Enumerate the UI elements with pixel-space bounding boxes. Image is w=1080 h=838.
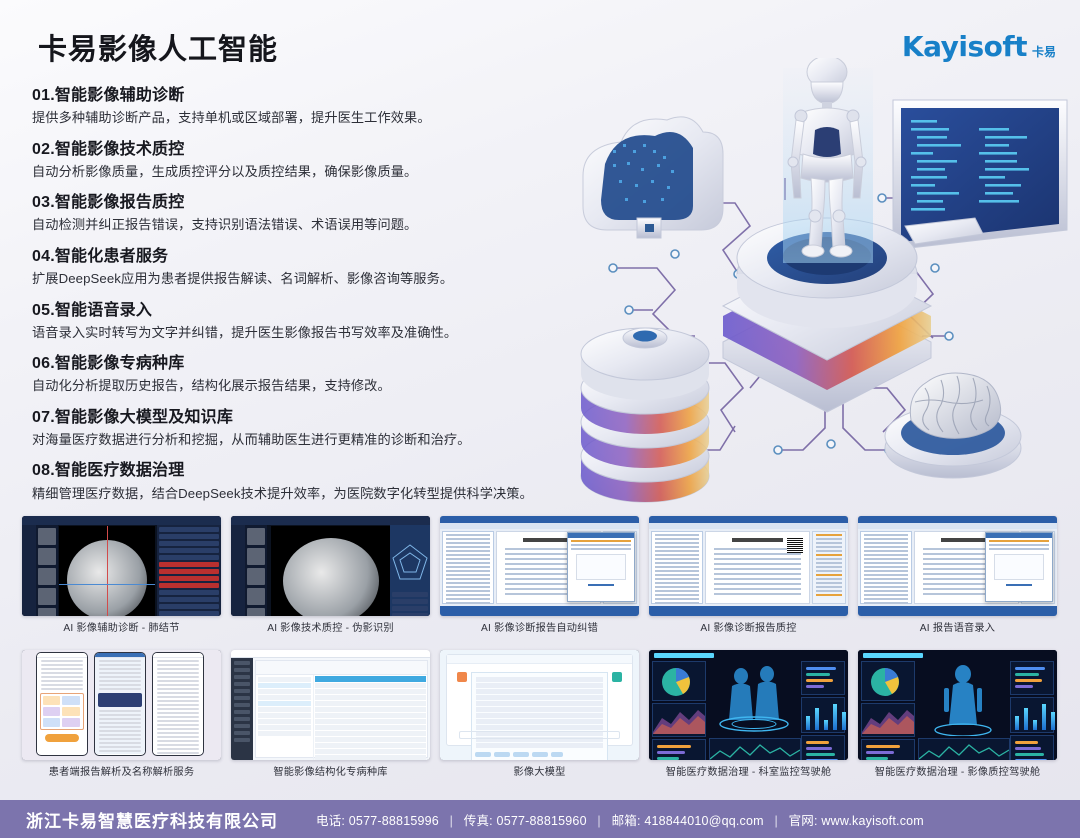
- phone-label: 电话:: [316, 814, 345, 828]
- feature-item-05: 05.智能语音录入语音录入实时转写为文字并纠错，提升医生影像报告书写效率及准确性…: [32, 299, 552, 344]
- shot-disease-db[interactable]: 智能影像结构化专病种库: [231, 650, 430, 779]
- feature-number: 06.: [32, 355, 55, 372]
- feature-title-text: 智能化患者服务: [55, 248, 168, 265]
- feature-number: 02.: [32, 141, 55, 158]
- shot-large-model-frame[interactable]: [440, 650, 639, 760]
- shot-qc-cockpit-frame[interactable]: [858, 650, 1057, 760]
- feature-description: 自动分析影像质量，生成质控评分以及质控结果，确保影像质量。: [32, 162, 552, 182]
- divider: |: [450, 814, 453, 828]
- feature-description: 精细管理医疗数据，结合DeepSeek技术提升效率，为医院数字化转型提供科学决策…: [32, 484, 552, 504]
- shot-ct-lung-nodule-frame[interactable]: [22, 516, 221, 616]
- feature-item-08: 08.智能医疗数据治理精细管理医疗数据，结合DeepSeek技术提升效率，为医院…: [32, 459, 552, 504]
- shot-ct-artifact-caption: AI 影像技术质控 - 伪影识别: [231, 623, 430, 635]
- shot-ct-lung-nodule[interactable]: AI 影像辅助诊断 - 肺结节: [22, 516, 221, 635]
- shot-report-voice-frame[interactable]: [858, 516, 1057, 616]
- shot-report-voice[interactable]: AI 报告语音录入: [858, 516, 1057, 635]
- feature-title: 03.智能影像报告质控: [32, 191, 552, 214]
- shot-report-qc-caption: AI 影像诊断报告质控: [649, 623, 848, 635]
- feature-title: 02.智能影像技术质控: [32, 138, 552, 161]
- feature-number: 03.: [32, 194, 55, 211]
- feature-title: 05.智能语音录入: [32, 299, 552, 322]
- monitor-code-screen: [893, 100, 1067, 250]
- feature-title-text: 智能影像辅助诊断: [55, 87, 185, 104]
- fax-label: 传真:: [464, 814, 493, 828]
- website-value: www.kayisoft.com: [821, 814, 924, 828]
- shot-report-autocorrect-frame[interactable]: [440, 516, 639, 616]
- feature-title-text: 智能影像技术质控: [55, 141, 185, 158]
- website-label: 官网:: [789, 814, 818, 828]
- feature-item-01: 01.智能影像辅助诊断提供多种辅助诊断产品，支持单机或区域部署，提升医生工作效果…: [32, 84, 552, 129]
- divider: |: [774, 814, 777, 828]
- feature-item-06: 06.智能影像专病种库自动化分析提取历史报告，结构化展示报告结果，支持修改。: [32, 352, 552, 397]
- shot-qc-cockpit-caption: 智能医疗数据治理 - 影像质控驾驶舱: [858, 767, 1057, 779]
- shot-qc-cockpit[interactable]: 智能医疗数据治理 - 影像质控驾驶舱: [858, 650, 1057, 779]
- shot-patient-mobile[interactable]: 患者端报告解析及名称解析服务: [22, 650, 221, 779]
- feature-description: 对海量医疗数据进行分析和挖掘，从而辅助医生进行更精准的诊断和治疗。: [32, 430, 552, 450]
- page-title: 卡易影像人工智能: [38, 26, 278, 68]
- feature-description: 自动检测并纠正报告错误，支持识别语法错误、术语误用等问题。: [32, 215, 552, 235]
- email-value: 418844010@qq.com: [644, 814, 763, 828]
- shot-large-model[interactable]: 影像大模型: [440, 650, 639, 779]
- feature-number: 07.: [32, 409, 55, 426]
- footer-contact-info: 电话: 0577-88815996 | 传真: 0577-88815960 | …: [316, 810, 924, 829]
- shot-report-autocorrect-caption: AI 影像诊断报告自动纠错: [440, 623, 639, 635]
- footer-company-name: 浙江卡易智慧医疗科技有限公司: [26, 807, 278, 832]
- brain-model: [885, 373, 1021, 478]
- screenshot-row-2: 患者端报告解析及名称解析服务智能影像结构化专病种库影像大模型智能医疗数据治理 -…: [0, 650, 1080, 800]
- shot-ct-artifact-frame[interactable]: [231, 516, 430, 616]
- feature-number: 04.: [32, 248, 55, 265]
- shot-disease-db-frame[interactable]: [231, 650, 430, 760]
- feature-item-03: 03.智能影像报告质控自动检测并纠正报告错误，支持识别语法错误、术语误用等问题。: [32, 191, 552, 236]
- feature-description: 提供多种辅助诊断产品，支持单机或区域部署，提升医生工作效果。: [32, 108, 552, 128]
- feature-title-text: 智能影像专病种库: [55, 355, 185, 372]
- feature-title: 06.智能影像专病种库: [32, 352, 552, 375]
- page-footer: 浙江卡易智慧医疗科技有限公司 电话: 0577-88815996 | 传真: 0…: [0, 800, 1080, 838]
- feature-list: 01.智能影像辅助诊断提供多种辅助诊断产品，支持单机或区域部署，提升医生工作效果…: [32, 84, 552, 513]
- ai-illustration: [575, 58, 1080, 510]
- shot-ct-artifact[interactable]: AI 影像技术质控 - 伪影识别: [231, 516, 430, 635]
- feature-item-02: 02.智能影像技术质控自动分析影像质量，生成质控评分以及质控结果，确保影像质量。: [32, 138, 552, 183]
- fax-value: 0577-88815960: [497, 814, 587, 828]
- feature-number: 05.: [32, 302, 55, 319]
- shot-report-qc[interactable]: AI 影像诊断报告质控: [649, 516, 848, 635]
- feature-title: 07.智能影像大模型及知识库: [32, 406, 552, 429]
- feature-item-07: 07.智能影像大模型及知识库对海量医疗数据进行分析和挖掘，从而辅助医生进行更精准…: [32, 406, 552, 451]
- shot-patient-mobile-frame[interactable]: [22, 650, 221, 760]
- shot-dept-cockpit-frame[interactable]: [649, 650, 848, 760]
- phone-value: 0577-88815996: [349, 814, 439, 828]
- divider: |: [597, 814, 600, 828]
- feature-title-text: 智能医疗数据治理: [55, 462, 185, 479]
- email-label: 邮箱:: [612, 814, 641, 828]
- feature-description: 自动化分析提取历史报告，结构化展示报告结果，支持修改。: [32, 376, 552, 396]
- feature-title-text: 智能影像报告质控: [55, 194, 185, 211]
- feature-item-04: 04.智能化患者服务扩展DeepSeek应用为患者提供报告解读、名词解析、影像咨…: [32, 245, 552, 290]
- shot-report-autocorrect[interactable]: AI 影像诊断报告自动纠错: [440, 516, 639, 635]
- shot-large-model-caption: 影像大模型: [440, 767, 639, 779]
- shot-dept-cockpit[interactable]: 智能医疗数据治理 - 科室监控驾驶舱: [649, 650, 848, 779]
- shot-report-qc-frame[interactable]: [649, 516, 848, 616]
- feature-title: 08.智能医疗数据治理: [32, 459, 552, 482]
- feature-number: 08.: [32, 462, 55, 479]
- database-stack: [581, 328, 709, 502]
- cloud-icon: [583, 117, 723, 238]
- feature-title-text: 智能影像大模型及知识库: [55, 409, 233, 426]
- feature-title: 04.智能化患者服务: [32, 245, 552, 268]
- shot-report-voice-caption: AI 报告语音录入: [858, 623, 1057, 635]
- feature-number: 01.: [32, 87, 55, 104]
- screenshot-row-1: AI 影像辅助诊断 - 肺结节AI 影像技术质控 - 伪影识别AI 影像诊断报告…: [0, 516, 1080, 644]
- shot-disease-db-caption: 智能影像结构化专病种库: [231, 767, 430, 779]
- shot-patient-mobile-caption: 患者端报告解析及名称解析服务: [22, 767, 221, 779]
- feature-title-text: 智能语音录入: [55, 302, 152, 319]
- feature-description: 语音录入实时转写为文字并纠错，提升医生影像报告书写效率及准确性。: [32, 323, 552, 343]
- feature-title: 01.智能影像辅助诊断: [32, 84, 552, 107]
- shot-dept-cockpit-caption: 智能医疗数据治理 - 科室监控驾驶舱: [649, 767, 848, 779]
- feature-description: 扩展DeepSeek应用为患者提供报告解读、名词解析、影像咨询等服务。: [32, 269, 552, 289]
- shot-ct-lung-nodule-caption: AI 影像辅助诊断 - 肺结节: [22, 623, 221, 635]
